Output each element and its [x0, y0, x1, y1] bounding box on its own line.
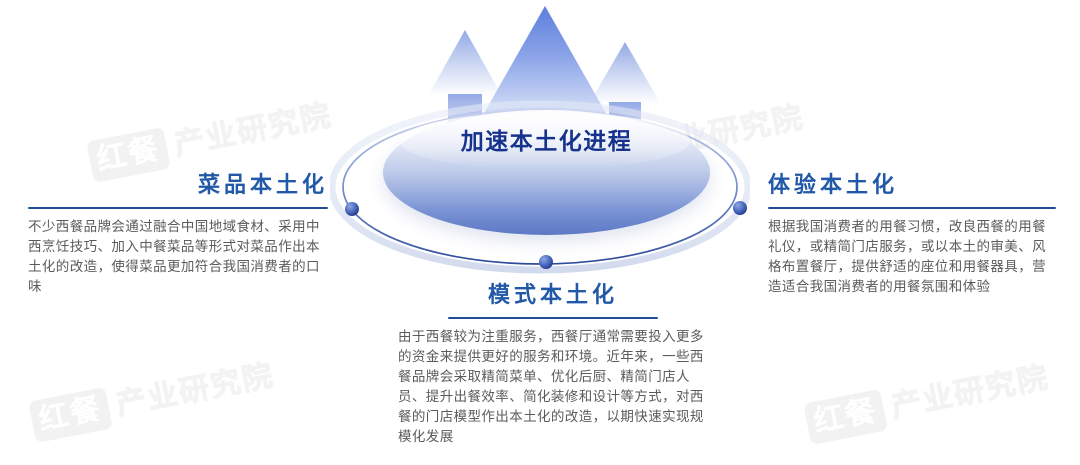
block-body-dish: 不少西餐品牌会通过融合中国地域食材、采用中西烹饪技巧、加入中餐菜品等形式对菜品作… — [28, 217, 328, 297]
divider-rule — [768, 207, 1056, 209]
center-title: 加速本土化进程 — [383, 122, 710, 156]
block-heading-experience: 体验本土化 — [768, 172, 1056, 198]
divider-rule — [28, 207, 328, 209]
block-body-model: 由于西餐较为注重服务，西餐厅通常需要投入更多的资金来提供更好的服务和环境。近年来… — [398, 327, 708, 447]
divider-rule — [448, 317, 658, 319]
watermark-badge: 红餐 — [803, 389, 887, 445]
block-model-localization: 模式本土化 由于西餐较为注重服务，西餐厅通常需要投入更多的资金来提供更好的服务和… — [398, 282, 708, 447]
watermark: 红餐 产业研究院 — [803, 357, 1052, 445]
block-heading-dish: 菜品本土化 — [28, 172, 328, 198]
infographic-canvas: 红餐 产业研究院 红餐 产业研究院 红餐 产业研究院 红餐 产业研究院 — [0, 0, 1080, 465]
watermark-badge: 红餐 — [28, 387, 112, 443]
watermark-text: 产业研究院 — [888, 359, 1052, 426]
watermark: 红餐 产业研究院 — [28, 355, 277, 443]
block-body-experience: 根据我国消费者的用餐习惯，改良西餐的用餐礼仪，或精简门店服务，或以本土的审美、风… — [768, 217, 1056, 297]
block-heading-model: 模式本土化 — [398, 282, 708, 308]
block-experience-localization: 体验本土化 根据我国消费者的用餐习惯，改良西餐的用餐礼仪，或精简门店服务，或以本… — [768, 172, 1056, 297]
watermark-text: 产业研究院 — [113, 357, 277, 424]
block-dish-localization: 菜品本土化 不少西餐品牌会通过融合中国地域食材、采用中西烹饪技巧、加入中餐菜品等… — [28, 172, 328, 297]
